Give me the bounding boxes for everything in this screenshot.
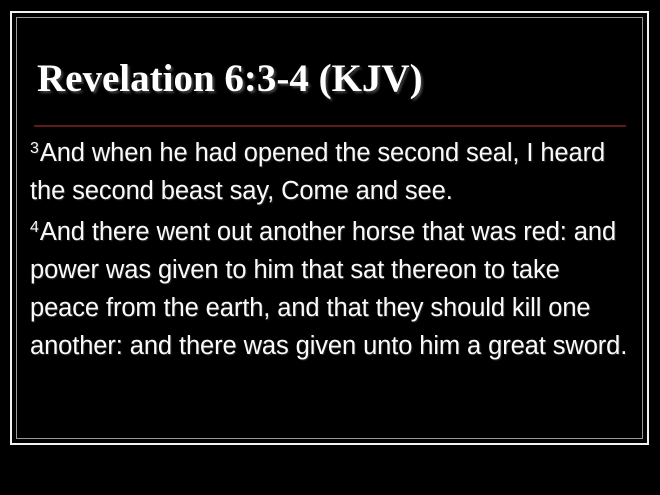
presentation-slide: Revelation 6:3-4 (KJV) 3And when he had … bbox=[0, 0, 660, 495]
verse-text: And when he had opened the second seal, … bbox=[30, 139, 605, 205]
verse-paragraph: 3And when he had opened the second seal,… bbox=[28, 134, 628, 210]
scripture-body: 3And when he had opened the second seal,… bbox=[28, 134, 628, 368]
title-divider-rule bbox=[34, 125, 626, 127]
verse-number: 3 bbox=[30, 140, 39, 157]
verse-text: And there went out another horse that wa… bbox=[30, 218, 627, 360]
slide-title: Revelation 6:3-4 (KJV) bbox=[26, 24, 634, 102]
slide-content: Revelation 6:3-4 (KJV) 3And when he had … bbox=[26, 24, 634, 428]
verse-paragraph: 4And there went out another horse that w… bbox=[28, 213, 628, 365]
verse-number: 4 bbox=[30, 219, 39, 236]
